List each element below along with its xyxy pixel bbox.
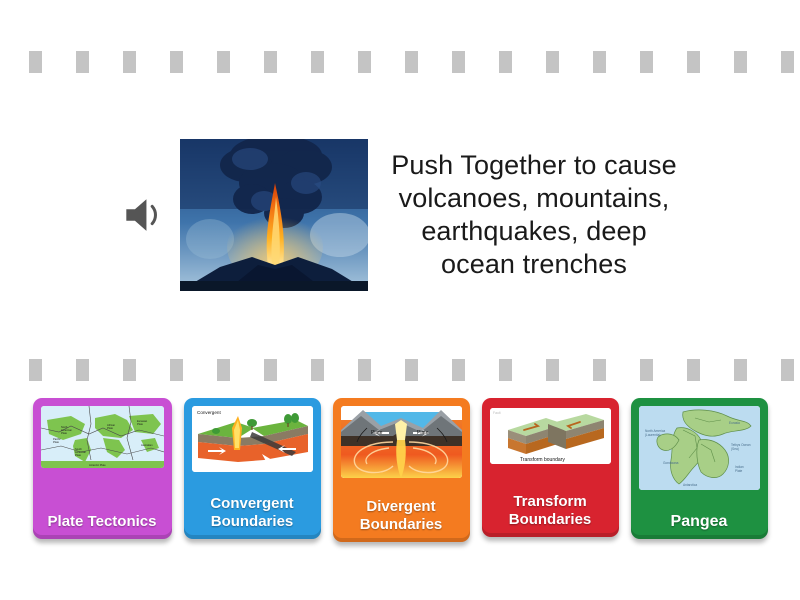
svg-text:Convergent: Convergent [197,410,221,415]
pangea-supercontinent-map-icon: North America (Laurentia) Eurasia Tethys… [639,406,760,490]
answer-card-convergent-boundaries[interactable]: Convergent Convergent Boundaries [184,398,321,539]
separator-dash [640,51,653,73]
svg-text:Antarctic Plate: Antarctic Plate [89,463,106,467]
svg-text:Eurasia: Eurasia [729,421,740,425]
separator-dash [734,359,747,381]
answer-card-label: Transform Boundaries [490,493,611,531]
separator-dash [76,51,89,73]
separator-dash [76,359,89,381]
svg-text:Fault: Fault [493,411,501,415]
separator-dash [311,51,324,73]
prompt-text: Push Together to cause volcanoes, mounta… [390,149,678,281]
separator-dash [687,51,700,73]
separator-dash [640,359,653,381]
dashed-separator-top [0,50,800,74]
separator-dash [781,359,794,381]
answer-card-label: Divergent Boundaries [341,498,462,536]
separator-dash [123,51,136,73]
separator-dash [311,359,324,381]
separator-dash [264,51,277,73]
separator-dash [734,51,747,73]
separator-dash [405,51,418,73]
separator-dash [405,359,418,381]
separator-dash [358,359,371,381]
svg-text:Plate: Plate [107,426,113,430]
separator-dash [499,51,512,73]
svg-text:(Laurentia): (Laurentia) [645,433,660,437]
transform-boundary-diagram-icon: Transform boundary Fault [490,408,611,464]
svg-text:(Sea): (Sea) [731,447,739,451]
volcano-eruption-photo [180,139,368,291]
separator-dash [170,51,183,73]
separator-dash [217,51,230,73]
separator-dash [593,359,606,381]
answer-card-divergent-boundaries[interactable]: Plate Plate Divergent Boundaries [333,398,470,542]
svg-text:Transform boundary: Transform boundary [520,457,565,463]
prompt-area: Push Together to cause volcanoes, mounta… [0,110,800,320]
svg-text:Antarctica: Antarctica [683,483,697,487]
dashed-separator-middle [0,358,800,382]
answer-card-label: Pangea [639,513,760,533]
separator-dash [29,359,42,381]
svg-text:Plate: Plate [137,422,143,426]
answer-card-label: Convergent Boundaries [192,495,313,533]
separator-dash [546,359,559,381]
separator-dash [452,51,465,73]
separator-dash [781,51,794,73]
separator-dash [546,51,559,73]
answer-card-plate-tectonics[interactable]: North American Plate South American Plat… [33,398,172,539]
svg-text:Plate: Plate [417,430,429,436]
svg-text:Plate: Plate [75,453,81,457]
svg-text:Plate: Plate [371,430,383,436]
answer-card-transform-boundaries[interactable]: Transform boundary Fault Transform Bound… [482,398,619,537]
separator-dash [264,359,277,381]
answer-card-label: Plate Tectonics [41,513,164,533]
svg-text:Plate: Plate [53,440,59,444]
activity-canvas: Push Together to cause volcanoes, mounta… [0,0,800,600]
separator-dash [358,51,371,73]
separator-dash [499,359,512,381]
svg-text:Australian: Australian [141,443,153,447]
answer-cards: North American Plate South American Plat… [0,398,800,553]
world-tectonic-plates-map-icon: North American Plate South American Plat… [41,406,164,468]
separator-dash [593,51,606,73]
separator-dash [123,359,136,381]
svg-text:Plate: Plate [61,431,67,435]
svg-text:Gondwana: Gondwana [663,461,679,465]
divergent-boundary-diagram-icon: Plate Plate [341,406,462,478]
answer-card-pangea[interactable]: North America (Laurentia) Eurasia Tethys… [631,398,768,539]
speaker-icon[interactable] [122,192,168,238]
separator-dash [29,51,42,73]
separator-dash [687,359,700,381]
convergent-boundary-diagram-icon: Convergent [192,406,313,472]
svg-text:Plate: Plate [735,469,742,473]
separator-dash [217,359,230,381]
separator-dash [170,359,183,381]
separator-dash [452,359,465,381]
